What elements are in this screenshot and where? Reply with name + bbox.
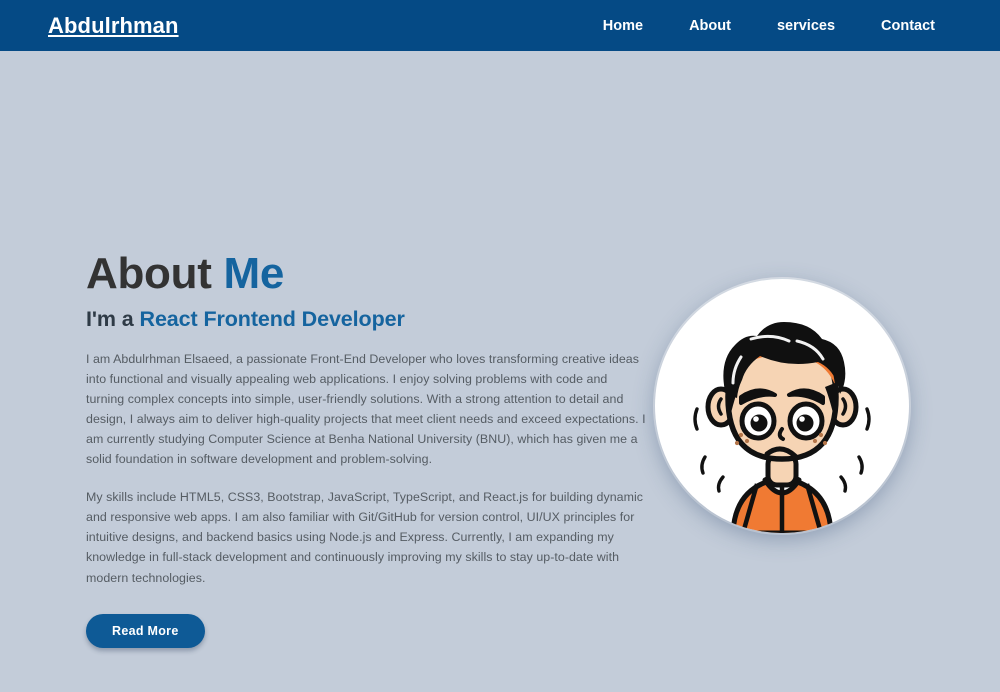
nav-link-contact[interactable]: Contact <box>858 12 958 40</box>
about-section: About Me I'm a React Frontend Developer … <box>0 51 1000 692</box>
nav-link-home[interactable]: Home <box>580 12 666 40</box>
about-text-column: About Me I'm a React Frontend Developer … <box>86 251 646 648</box>
avatar <box>655 279 909 533</box>
page-title-plain: About <box>86 249 223 298</box>
nav-item-services: services <box>754 12 858 40</box>
page-title-accent: Me <box>223 249 284 298</box>
nav-link-about[interactable]: About <box>666 12 754 40</box>
nav-item-contact: Contact <box>858 12 958 40</box>
page-subtitle-accent: React Frontend Developer <box>140 307 405 331</box>
nav-links-list: Home About services Contact <box>580 12 958 40</box>
page-title: About Me <box>86 251 646 298</box>
main-navbar: Abdulrhman Home About services Contact <box>0 0 1000 51</box>
about-paragraph-1: I am Abdulrhman Elsaeed, a passionate Fr… <box>86 349 646 470</box>
about-paragraph-2: My skills include HTML5, CSS3, Bootstrap… <box>86 487 646 587</box>
page-subtitle-plain: I'm a <box>86 307 140 331</box>
read-more-button[interactable]: Read More <box>86 614 205 648</box>
nav-link-services[interactable]: services <box>754 12 858 40</box>
avatar-illustration <box>655 279 909 533</box>
page-subtitle: I'm a React Frontend Developer <box>86 307 646 332</box>
nav-item-about: About <box>666 12 754 40</box>
brand-logo[interactable]: Abdulrhman <box>48 13 179 39</box>
nav-item-home: Home <box>580 12 666 40</box>
